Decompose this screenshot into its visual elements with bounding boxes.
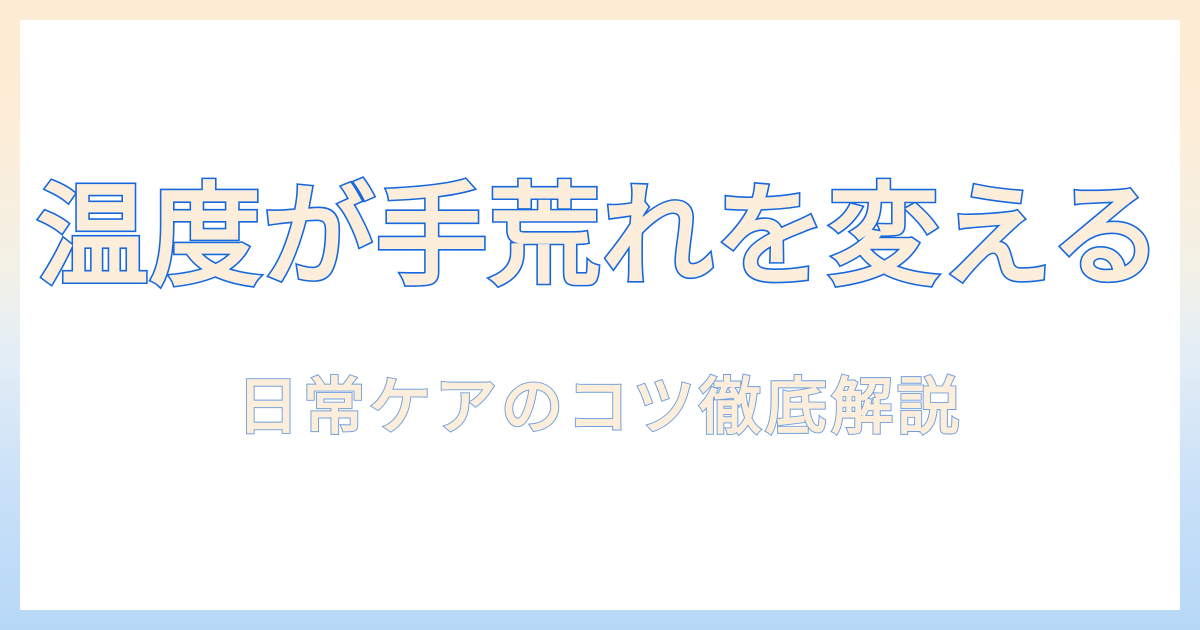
title-card: 温度が手荒れを変える 日常ケアのコツ徹底解説 — [0, 0, 1200, 630]
title-container: 温度が手荒れを変える — [20, 171, 1180, 303]
page-title: 温度が手荒れを変える — [37, 181, 1164, 293]
card-inner-panel: 温度が手荒れを変える 日常ケアのコツ徹底解説 — [20, 20, 1180, 610]
page-subtitle: 日常ケアのコツ徹底解説 — [237, 376, 963, 438]
subtitle-container: 日常ケアのコツ徹底解説 — [20, 361, 1180, 453]
text-stack: 温度が手荒れを変える 日常ケアのコツ徹底解説 — [20, 171, 1180, 453]
